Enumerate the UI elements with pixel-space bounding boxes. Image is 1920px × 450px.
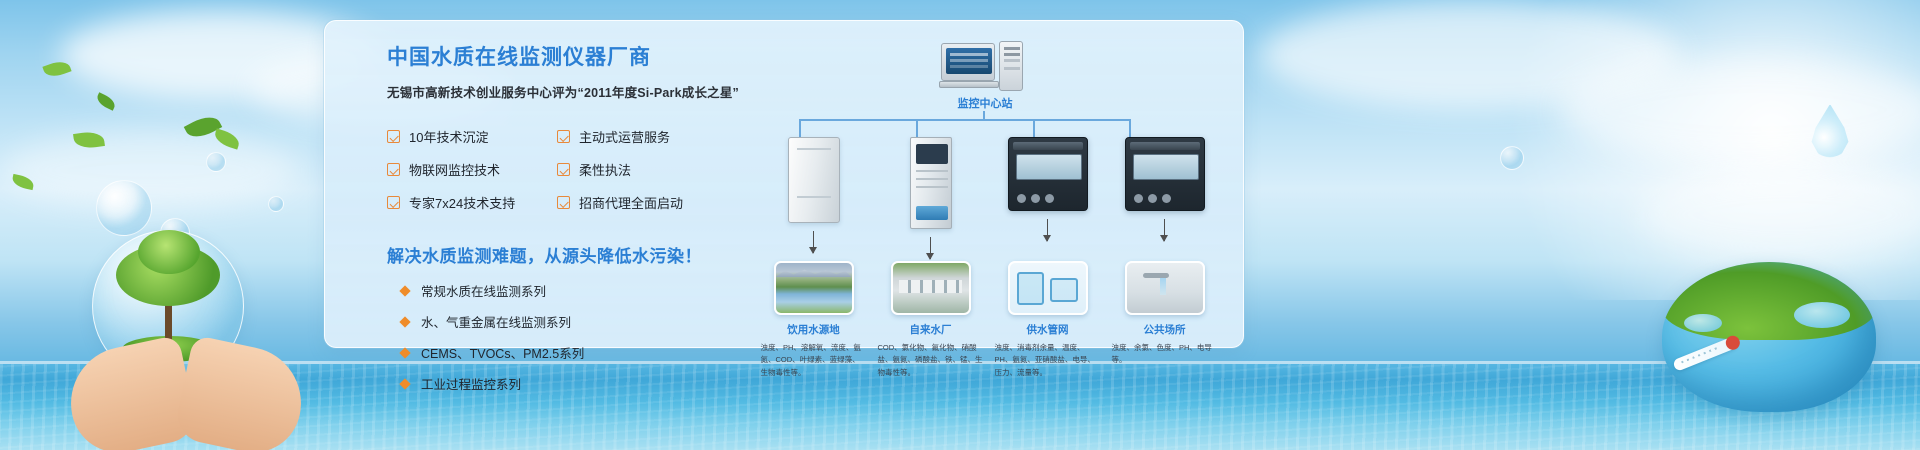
water-quality-cabinet-icon — [788, 137, 840, 223]
page-title: 中国水质在线监测仪器厂商 — [387, 45, 747, 70]
scenario-title: 饮用水源地 — [787, 322, 840, 337]
earth-lake — [1794, 302, 1850, 328]
device-lcd-screen — [1016, 154, 1082, 180]
device-buttons — [1017, 194, 1054, 203]
checkbox-checked-icon — [387, 130, 400, 143]
down-arrow-icon — [930, 237, 932, 259]
checklist-item-label: 10年技术沉淀 — [409, 127, 488, 146]
left-hand — [60, 335, 199, 450]
checklist-item-label: 柔性执法 — [579, 160, 631, 179]
cloud-shape — [1560, 60, 1920, 160]
earth-illustration — [1654, 240, 1884, 420]
online-controller-icon — [1125, 137, 1205, 211]
monitor-icon — [941, 43, 995, 81]
feature-checklist: 10年技术沉淀 主动式运营服务 物联网监控技术 柔性执法 专家7x24技术支持 … — [387, 127, 747, 212]
right-hand — [172, 335, 311, 450]
water-droplet-icon — [1810, 104, 1850, 158]
leaf-icon — [42, 58, 71, 80]
down-arrow-icon — [1047, 219, 1049, 241]
main-content-panel: 中国水质在线监测仪器厂商 无锡市高新技术创业服务中心评为“2011年度Si-Pa… — [324, 20, 1244, 348]
connector-bus — [799, 119, 1129, 121]
diamond-bullet-icon — [399, 378, 410, 389]
scenario-cell: 供水管网 浊度、消毒剂余量、温度、PH、氨氮、亚硝酸盐、电导、压力、流量等。 — [989, 261, 1106, 379]
connector-drop — [799, 119, 801, 137]
connector-drop — [1033, 119, 1035, 137]
checklist-item: 专家7x24技术支持 — [387, 193, 557, 212]
diamond-bullet-icon — [399, 347, 410, 358]
checkbox-checked-icon — [387, 163, 400, 176]
list-item: 常规水质在线监测系列 — [387, 281, 747, 300]
monitoring-center-computer-icon — [941, 41, 1027, 93]
list-item-label: 常规水质在线监测系列 — [421, 281, 546, 300]
diamond-bullet-icon — [399, 285, 410, 296]
pc-tower-icon — [999, 41, 1023, 91]
product-series-list: 常规水质在线监测系列 水、气重金属在线监测系列 CEMS、TVOCs、PM2.5… — [387, 281, 747, 393]
device-cell — [755, 137, 872, 259]
checklist-item-label: 招商代理全面启动 — [579, 193, 683, 212]
device-cell — [989, 137, 1106, 259]
device-cell — [1106, 137, 1223, 259]
checklist-item: 柔性执法 — [557, 160, 727, 179]
list-item-label: 工业过程监控系列 — [421, 374, 521, 393]
checklist-item: 招商代理全面启动 — [557, 193, 727, 212]
checklist-item-label: 专家7x24技术支持 — [409, 193, 515, 212]
list-item-label: 水、气重金属在线监测系列 — [421, 312, 571, 331]
checklist-item: 物联网监控技术 — [387, 160, 557, 179]
scenario-cell: 公共场所 浊度、余氯、色度、PH、电导等。 — [1106, 261, 1223, 379]
hands-with-sprout-illustration — [64, 220, 314, 450]
checkbox-checked-icon — [557, 163, 570, 176]
bubble-shape — [206, 152, 226, 172]
device-row — [755, 137, 1225, 259]
down-arrow-icon — [813, 231, 815, 253]
checklist-item-label: 主动式运营服务 — [579, 127, 670, 146]
scenario-description: 浊度、余氯、色度、PH、电导等。 — [1112, 342, 1218, 367]
monitoring-network-diagram: 监控中心站 — [755, 33, 1225, 343]
connector-drop — [1129, 119, 1131, 137]
keyboard-icon — [939, 81, 999, 88]
checklist-item: 主动式运营服务 — [557, 127, 727, 146]
drinking-water-source-photo — [774, 261, 854, 315]
leaf-icon — [95, 92, 118, 110]
page-subtitle: 无锡市高新技术创业服务中心评为“2011年度Si-Park成长之星” — [387, 82, 747, 101]
device-top-bar — [1130, 142, 1200, 150]
checklist-item: 10年技术沉淀 — [387, 127, 557, 146]
monitor-screen — [946, 48, 992, 74]
list-item: CEMS、TVOCs、PM2.5系列 — [387, 343, 747, 362]
device-buttons — [1134, 194, 1171, 203]
earth-lake — [1684, 314, 1722, 332]
text-content-column: 中国水质在线监测仪器厂商 无锡市高新技术创业服务中心评为“2011年度Si-Pa… — [387, 45, 747, 393]
device-lcd-screen — [1133, 154, 1199, 180]
cloud-shape — [1260, 0, 1680, 110]
scenario-description: 浊度、PH、溶解氧、流度、氨氮、COD、叶绿素、蓝绿藻、生物毒性等。 — [761, 342, 867, 379]
section-heading: 解决水质监测难题，从源头降低水污染！ — [387, 242, 747, 267]
earth-globe — [1662, 262, 1876, 412]
scenario-title: 公共场所 — [1144, 322, 1186, 337]
scenario-title: 自来水厂 — [910, 322, 952, 337]
checkbox-checked-icon — [557, 130, 570, 143]
down-arrow-icon — [1164, 219, 1166, 241]
connector-drop — [916, 119, 918, 137]
diamond-bullet-icon — [399, 316, 410, 327]
checklist-item-label: 物联网监控技术 — [409, 160, 500, 179]
checkbox-checked-icon — [557, 196, 570, 209]
bubble-shape — [268, 196, 284, 212]
leaf-icon — [73, 130, 105, 150]
device-top-bar — [1013, 142, 1083, 150]
monitoring-center-label: 监控中心站 — [905, 95, 1065, 111]
checkbox-checked-icon — [387, 196, 400, 209]
scenario-description: COD、氯化物、氟化物、硝酸盐、氨氮、磷酸盐、铁、锰、生物毒性等。 — [878, 342, 984, 379]
water-plant-photo — [891, 261, 971, 315]
scenario-cell: 饮用水源地 浊度、PH、溶解氧、流度、氨氮、COD、叶绿素、蓝绿藻、生物毒性等。 — [755, 261, 872, 379]
analyzer-rack-icon — [910, 137, 952, 229]
list-item: 工业过程监控系列 — [387, 374, 747, 393]
public-place-photo — [1125, 261, 1205, 315]
list-item-label: CEMS、TVOCs、PM2.5系列 — [421, 343, 584, 362]
device-cell — [872, 137, 989, 259]
scenario-cell: 自来水厂 COD、氯化物、氟化物、硝酸盐、氨氮、磷酸盐、铁、锰、生物毒性等。 — [872, 261, 989, 379]
leaf-icon — [212, 128, 241, 149]
device-vents — [916, 170, 948, 172]
bubble-shape — [1500, 146, 1524, 170]
scenario-description: 浊度、消毒剂余量、温度、PH、氨氮、亚硝酸盐、电导、压力、流量等。 — [995, 342, 1101, 379]
leaf-icon — [11, 174, 35, 190]
online-controller-icon — [1008, 137, 1088, 211]
device-base — [916, 206, 948, 220]
list-item: 水、气重金属在线监测系列 — [387, 312, 747, 331]
scenario-title: 供水管网 — [1027, 322, 1069, 337]
pipe-network-photo — [1008, 261, 1088, 315]
tree-crown-top — [138, 230, 200, 274]
device-panel — [916, 144, 948, 164]
scenario-row: 饮用水源地 浊度、PH、溶解氧、流度、氨氮、COD、叶绿素、蓝绿藻、生物毒性等。… — [755, 261, 1225, 379]
